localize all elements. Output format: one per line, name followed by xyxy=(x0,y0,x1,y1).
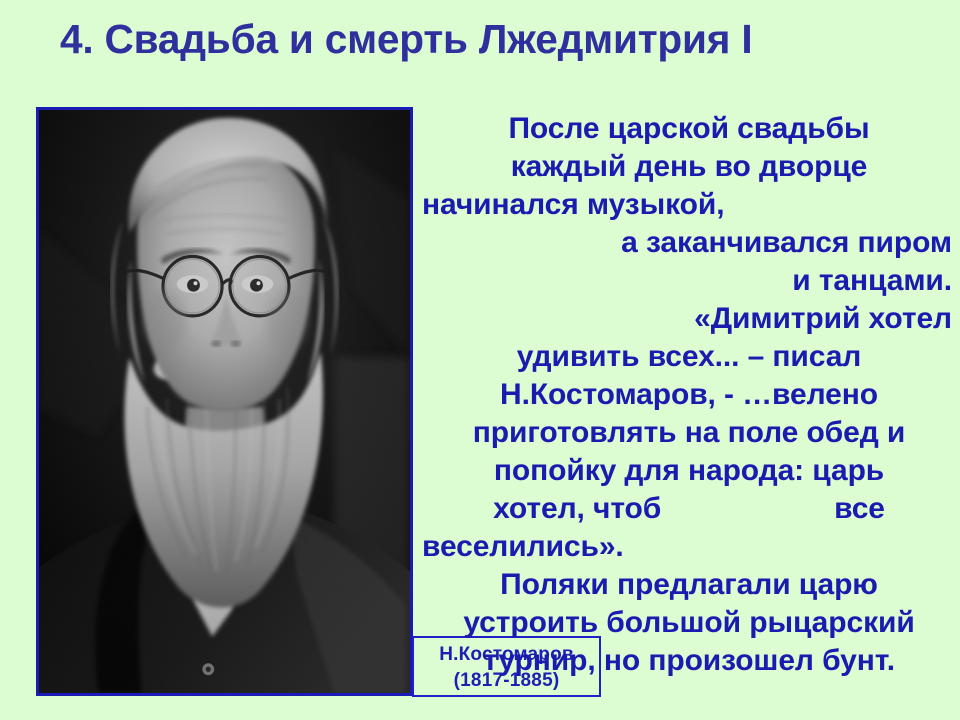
body-line: турнир, но произошел бунт. xyxy=(418,642,960,680)
body-line: начинался музыкой, xyxy=(418,186,960,224)
body-line: приготовлять на поле обед и xyxy=(418,414,960,452)
body-line: попойку для народа: царь xyxy=(418,452,960,490)
slide-body-text: После царской свадьбыкаждый день во двор… xyxy=(418,110,960,680)
body-line: После царской свадьбы xyxy=(418,110,960,148)
body-line: а заканчивался пиром xyxy=(418,224,960,262)
portrait-photo xyxy=(39,110,410,693)
body-line: устроить большой рыцарский xyxy=(418,604,960,642)
body-line: хотел, чтоб все xyxy=(418,490,960,528)
body-line: «Димитрий хотел xyxy=(418,300,960,338)
body-line: и танцами. xyxy=(418,262,960,300)
body-line: Поляки предлагали царю xyxy=(418,566,960,604)
body-line: веселились». xyxy=(418,528,960,566)
page-title: 4. Свадьба и смерть Лжедмитрия I xyxy=(60,14,911,70)
body-line: удивить всех... – писал xyxy=(418,338,960,376)
body-line: каждый день во дворце xyxy=(418,148,960,186)
portrait-frame xyxy=(36,107,413,696)
body-line: Н.Костомаров, - …велено xyxy=(418,376,960,414)
presentation-slide: 4. Свадьба и смерть Лжедмитрия I xyxy=(0,0,960,720)
